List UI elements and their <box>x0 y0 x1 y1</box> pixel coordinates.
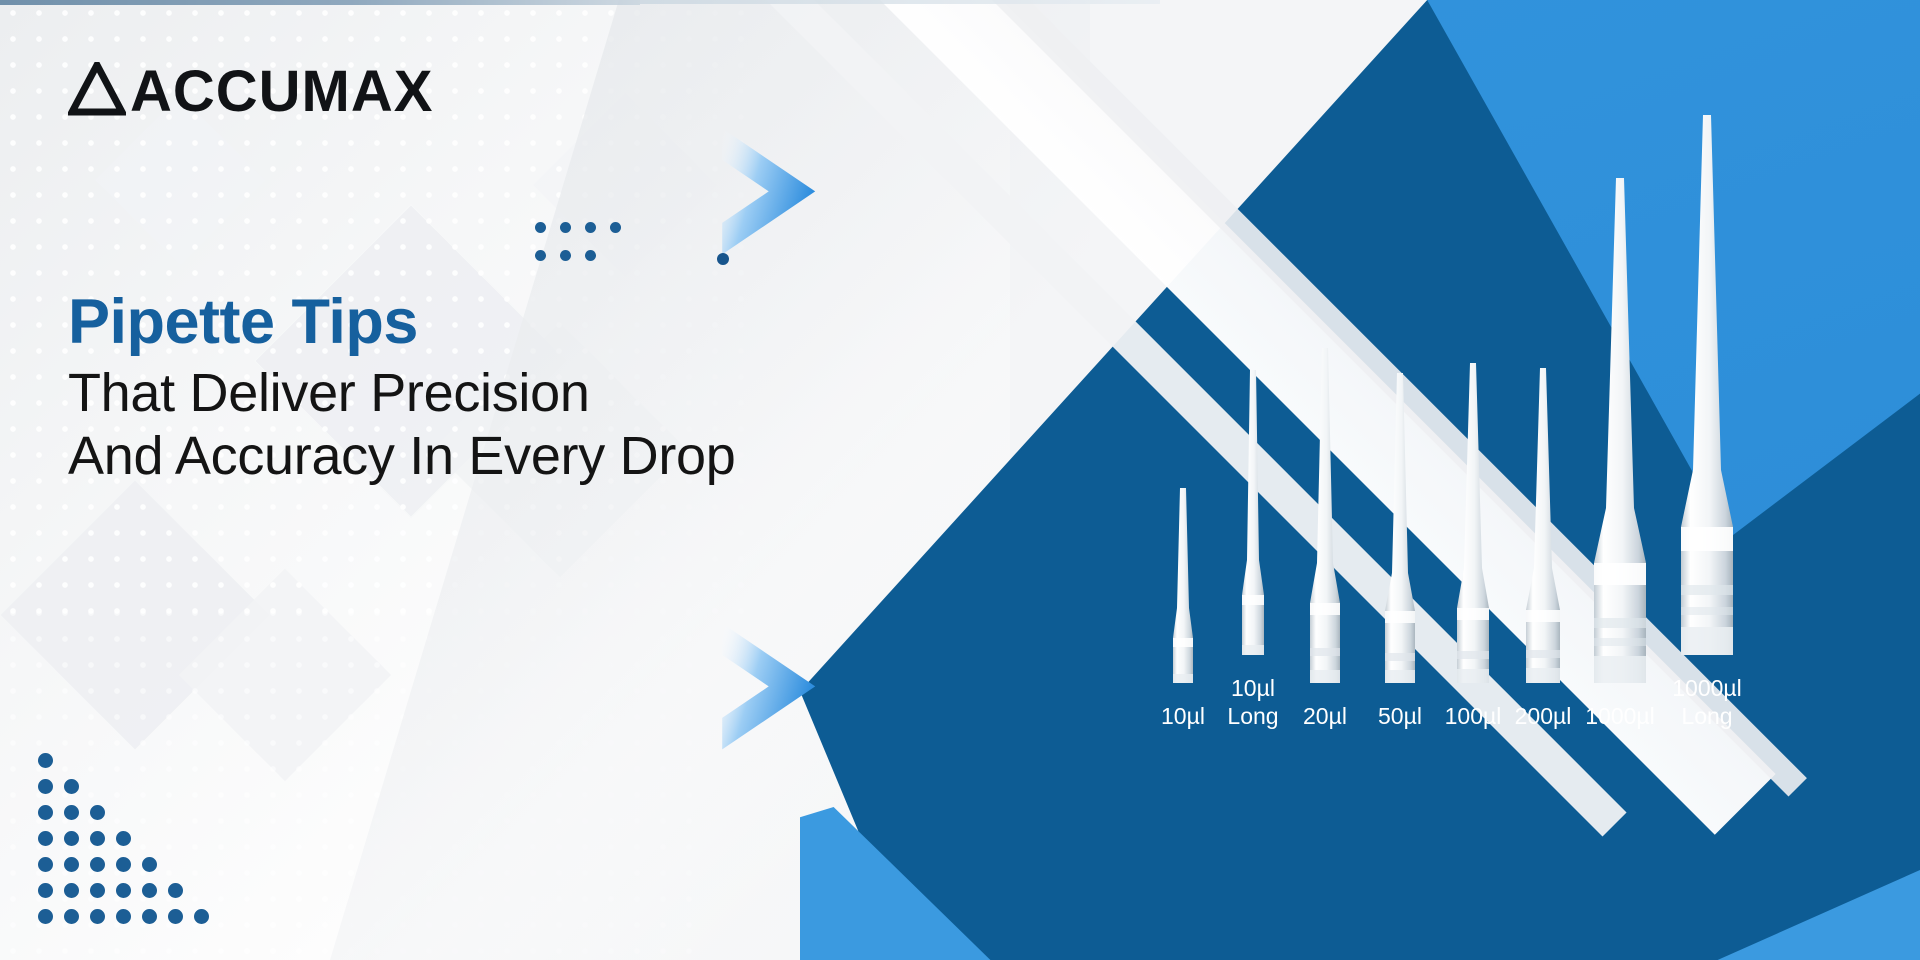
pipette-tip-item: 1000µl Long <box>1642 115 1772 730</box>
pipette-tip-graphic <box>1642 115 1772 660</box>
headline-line-3: And Accuracy In Every Drop <box>68 425 736 488</box>
chevron-right-icon <box>716 120 826 260</box>
chevron-right-icon <box>716 615 826 755</box>
top-accent-rule <box>0 0 640 5</box>
dot-accent-row <box>535 250 610 268</box>
pipette-tip-label: 50µl <box>1378 702 1422 730</box>
headline-line-2: That Deliver Precision <box>68 362 736 425</box>
triangle-a-icon <box>68 62 126 121</box>
headline-line-1: Pipette Tips <box>68 288 736 356</box>
top-accent-rule <box>640 0 1160 4</box>
dot-accent-row <box>535 222 635 240</box>
pipette-tips-row: 10µl 10µl Long <box>1140 0 1920 960</box>
triangle-dot-decoration <box>38 753 220 935</box>
pipette-tip-label: 20µl <box>1303 702 1347 730</box>
brand-logo[interactable]: ACCUMAX <box>68 62 433 121</box>
brand-name: ACCUMAX <box>130 63 433 121</box>
dot-accent <box>717 253 729 265</box>
marketing-banner: ACCUMAX Pipette Tips That Deliver Precis… <box>0 0 1920 960</box>
headline-block: Pipette Tips That Deliver Precision And … <box>68 288 736 487</box>
pipette-tip-label: 1000µl Long <box>1672 674 1742 730</box>
